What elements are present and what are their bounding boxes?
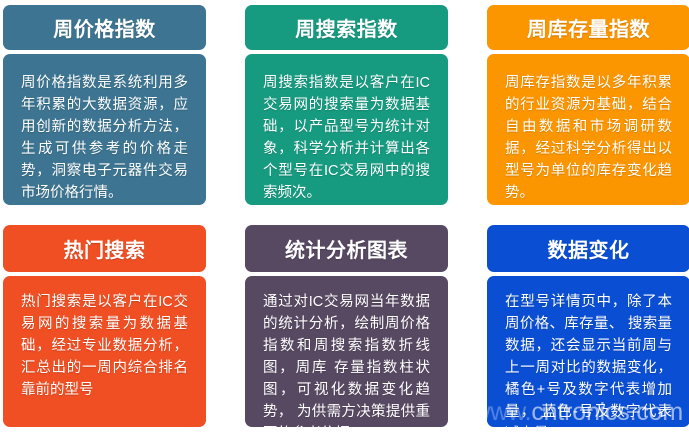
- card-data-change[interactable]: 数据变化 在型号详情页中，除了本周价格、库存量、 搜索量数据，还会显示当前周与上…: [487, 225, 689, 427]
- card-description: 周库存指数是以多年积累的行业资源为基础，结合自由数据和市场调研数据，经过科学分析…: [505, 72, 672, 204]
- card-weekly-inventory-index[interactable]: 周库存量指数 周库存指数是以多年积累的行业资源为基础，结合自由数据和市场调研数据…: [487, 5, 689, 205]
- card-header-data-change: 数据变化: [487, 225, 689, 272]
- card-body-statistical-analysis-chart: 通过对IC交易网当年数据的统计分析，绘制周价格指数和周搜索指数折线图，周库 存量…: [245, 276, 448, 427]
- card-header-weekly-inventory-index: 周库存量指数: [487, 5, 689, 50]
- card-description: 热门搜索是以客户在IC交易网的搜索量为数据基础，经过专业数据分析，汇总出的一周内…: [21, 291, 188, 401]
- card-header-hot-search: 热门搜索: [3, 225, 206, 272]
- card-body-data-change: 在型号详情页中，除了本周价格、库存量、 搜索量数据，还会显示当前周与上一周对比的…: [487, 276, 689, 427]
- card-title: 统计分析图表: [285, 234, 408, 263]
- card-weekly-search-index[interactable]: 周搜索指数 周搜索指数是以客户在IC交易网的搜索量为数据基础，以产品型号为统计对…: [245, 5, 448, 205]
- card-title: 周库存量指数: [527, 13, 650, 42]
- card-title: 周价格指数: [53, 13, 156, 42]
- card-title: 数据变化: [548, 234, 630, 263]
- card-body-weekly-inventory-index: 周库存指数是以多年积累的行业资源为基础，结合自由数据和市场调研数据，经过科学分析…: [487, 54, 689, 205]
- card-body-hot-search: 热门搜索是以客户在IC交易网的搜索量为数据基础，经过专业数据分析，汇总出的一周内…: [3, 276, 206, 427]
- card-description: 在型号详情页中，除了本周价格、库存量、 搜索量数据，还会显示当前周与上一周对比的…: [505, 291, 672, 427]
- card-header-weekly-price-index: 周价格指数: [3, 5, 206, 50]
- card-header-statistical-analysis-chart: 统计分析图表: [245, 225, 448, 272]
- card-body-weekly-price-index: 周价格指数是系统利用多年积累的大数据资源，应用创新的数据分析方法，生成可供参考的…: [3, 54, 206, 205]
- card-hot-search[interactable]: 热门搜索 热门搜索是以客户在IC交易网的搜索量为数据基础，经过专业数据分析，汇总…: [3, 225, 206, 427]
- card-weekly-price-index[interactable]: 周价格指数 周价格指数是系统利用多年积累的大数据资源，应用创新的数据分析方法，生…: [3, 5, 206, 205]
- feature-card-board: 周价格指数 周价格指数是系统利用多年积累的大数据资源，应用创新的数据分析方法，生…: [0, 0, 689, 433]
- card-statistical-analysis-chart[interactable]: 统计分析图表 通过对IC交易网当年数据的统计分析，绘制周价格指数和周搜索指数折线…: [245, 225, 448, 427]
- card-header-weekly-search-index: 周搜索指数: [245, 5, 448, 50]
- card-description: 周搜索指数是以客户在IC交易网的搜索量为数据基础，以产品型号为统计对象，科学分析…: [263, 72, 430, 204]
- card-title: 热门搜索: [64, 234, 146, 263]
- card-title: 周搜索指数: [295, 13, 398, 42]
- card-description: 通过对IC交易网当年数据的统计分析，绘制周价格指数和周搜索指数折线图，周库 存量…: [263, 291, 430, 427]
- card-body-weekly-search-index: 周搜索指数是以客户在IC交易网的搜索量为数据基础，以产品型号为统计对象，科学分析…: [245, 54, 448, 205]
- card-description: 周价格指数是系统利用多年积累的大数据资源，应用创新的数据分析方法，生成可供参考的…: [21, 72, 188, 204]
